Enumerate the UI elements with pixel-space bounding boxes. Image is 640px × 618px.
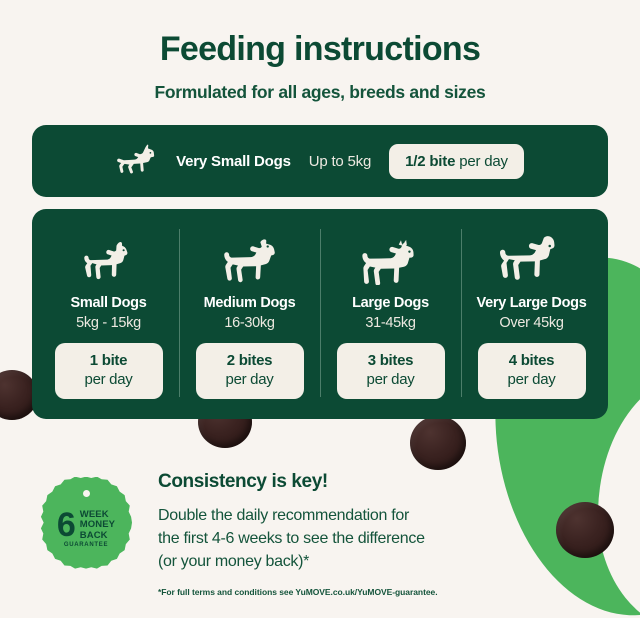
size-name: Medium Dogs — [204, 295, 296, 311]
size-column-medium: Medium Dogs 16-30kg 2 bites per day — [179, 227, 320, 399]
size-name: Small Dogs — [71, 295, 147, 311]
consistency-body: Double the daily recommendation for the … — [158, 504, 608, 574]
size-weight: Over 45kg — [499, 315, 563, 331]
very-small-dogs-label: Very Small Dogs — [176, 153, 291, 170]
very-large-dog-silhouette-icon — [498, 227, 566, 285]
size-frequency: per day — [341, 371, 441, 390]
badge-text-lines: WEEK MONEY BACK — [80, 510, 115, 542]
badge-number: 6 — [57, 511, 76, 540]
medium-dog-silhouette-icon — [219, 227, 281, 285]
very-small-dogs-amount: 1/2 bite — [405, 153, 455, 170]
page-subtitle: Formulated for all ages, breeds and size… — [32, 82, 608, 103]
large-dog-silhouette-icon — [360, 227, 422, 285]
badge-line-back: BACK — [80, 531, 115, 542]
feeding-instructions-page: Feeding instructions Formulated for all … — [0, 0, 640, 597]
consistency-text-block: Consistency is key! Double the daily rec… — [158, 467, 608, 598]
size-amount: 2 bites — [200, 352, 300, 371]
consistency-title: Consistency is key! — [158, 471, 608, 493]
consistency-body-line-3: (or your money back)* — [158, 550, 608, 573]
size-weight: 5kg - 15kg — [76, 315, 141, 331]
size-frequency: per day — [200, 371, 300, 390]
size-frequency: per day — [59, 371, 159, 390]
small-dog-silhouette-icon — [82, 227, 136, 285]
very-small-dogs-weight: Up to 5kg — [309, 153, 371, 170]
small-dog-silhouette-icon — [116, 144, 158, 178]
size-dosage-pill: 1 bite per day — [55, 343, 163, 399]
very-small-dogs-panel: Very Small Dogs Up to 5kg 1/2 bite per d… — [32, 125, 608, 197]
size-column-small: Small Dogs 5kg - 15kg 1 bite per day — [38, 227, 179, 399]
size-frequency: per day — [482, 371, 582, 390]
dog-sizes-panel: Small Dogs 5kg - 15kg 1 bite per day Med… — [32, 209, 608, 419]
size-dosage-pill: 4 bites per day — [478, 343, 586, 399]
size-dosage-pill: 2 bites per day — [196, 343, 304, 399]
page-title: Feeding instructions — [32, 30, 608, 69]
size-dosage-pill: 3 bites per day — [337, 343, 445, 399]
consistency-body-line-2: the first 4-6 weeks to see the differenc… — [158, 527, 608, 550]
size-amount: 1 bite — [59, 352, 159, 371]
badge-guarantee-label: GUARANTEE — [40, 542, 132, 548]
very-small-dogs-dosage-pill: 1/2 bite per day — [389, 144, 524, 179]
consistency-body-line-1: Double the daily recommendation for — [158, 504, 608, 527]
size-name: Very Large Dogs — [477, 295, 587, 311]
terms-and-conditions-note: *For full terms and conditions see YuMOV… — [158, 587, 608, 597]
size-name: Large Dogs — [352, 295, 429, 311]
size-amount: 3 bites — [341, 352, 441, 371]
size-weight: 16-30kg — [224, 315, 274, 331]
consistency-section: 6 WEEK MONEY BACK GUARANTEE Consistency … — [32, 467, 608, 598]
page-header: Feeding instructions Formulated for all … — [32, 0, 608, 103]
size-amount: 4 bites — [482, 352, 582, 371]
size-column-large: Large Dogs 31-45kg 3 bites per day — [320, 227, 461, 399]
size-column-very-large: Very Large Dogs Over 45kg 4 bites per da… — [461, 227, 602, 399]
money-back-guarantee-badge: 6 WEEK MONEY BACK GUARANTEE — [40, 477, 132, 569]
very-small-dogs-frequency: per day — [459, 153, 508, 170]
badge-content: 6 WEEK MONEY BACK — [40, 477, 132, 569]
size-weight: 31-45kg — [365, 315, 415, 331]
